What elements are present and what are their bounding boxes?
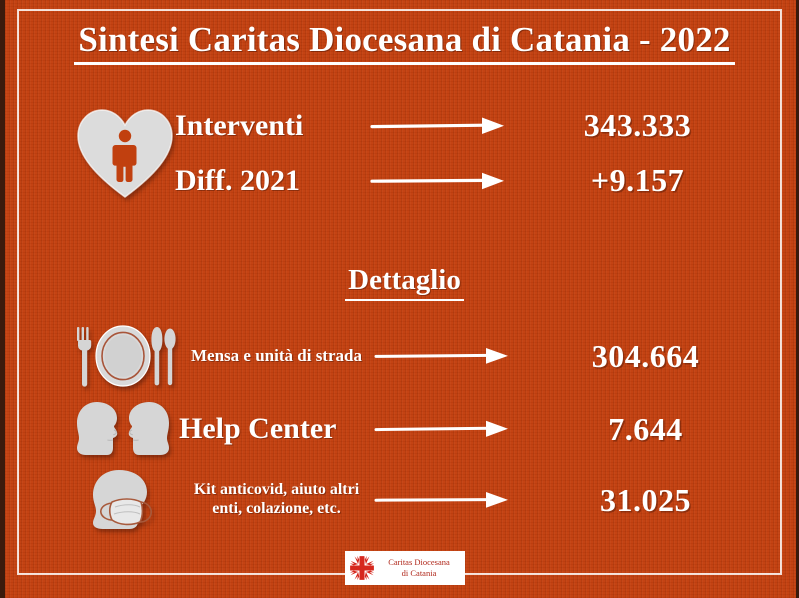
caritas-cross-icon [348, 554, 376, 582]
detail-row: Kit anticovid, aiuto altri enti, colazio… [67, 466, 767, 534]
detail-row: Mensa e unità di strada 304.664 [67, 320, 767, 392]
summary-block: Interventi 343.333 Diff. 2021 [67, 98, 757, 208]
detail-label: Mensa e unità di strada [179, 346, 374, 366]
arrow-right-icon [374, 490, 524, 510]
arrow-right-icon [374, 419, 524, 439]
summary-label: Diff. 2021 [175, 164, 370, 198]
infographic-slide: Sintesi Caritas Diocesana di Catania - 2… [0, 0, 799, 598]
head-with-mask-icon [67, 468, 179, 532]
page-title: Sintesi Caritas Diocesana di Catania - 2… [74, 22, 734, 65]
detail-label: Kit anticovid, aiuto altri enti, colazio… [179, 481, 374, 519]
summary-rows: Interventi 343.333 Diff. 2021 [175, 98, 755, 208]
arrow-right-icon [370, 116, 520, 136]
caritas-logo: Caritas Diocesana di Catania [345, 551, 465, 585]
detail-value: 31.025 [524, 482, 767, 519]
heart-with-person-icon [75, 103, 175, 203]
plate-cutlery-icon [67, 323, 179, 389]
logo-text: Caritas Diocesana di Catania [376, 557, 462, 578]
two-heads-icon [67, 400, 179, 458]
section-heading-container: Dettaglio [5, 264, 799, 301]
summary-value: +9.157 [520, 162, 755, 199]
summary-row-diff: Diff. 2021 +9.157 [175, 153, 755, 208]
summary-value: 343.333 [520, 107, 755, 144]
detail-value: 304.664 [524, 338, 767, 375]
logo-line-2: di Catania [376, 568, 462, 579]
summary-row-interventi: Interventi 343.333 [175, 98, 755, 153]
section-heading: Dettaglio [345, 264, 464, 301]
page-title-container: Sintesi Caritas Diocesana di Catania - 2… [5, 22, 799, 65]
logo-line-1: Caritas Diocesana [376, 557, 462, 568]
summary-label: Interventi [175, 109, 370, 143]
detail-row: Help Center 7.644 [67, 398, 767, 460]
arrow-right-icon [374, 346, 524, 366]
detail-label: Help Center [179, 411, 374, 446]
detail-value: 7.644 [524, 411, 767, 448]
arrow-right-icon [370, 171, 520, 191]
